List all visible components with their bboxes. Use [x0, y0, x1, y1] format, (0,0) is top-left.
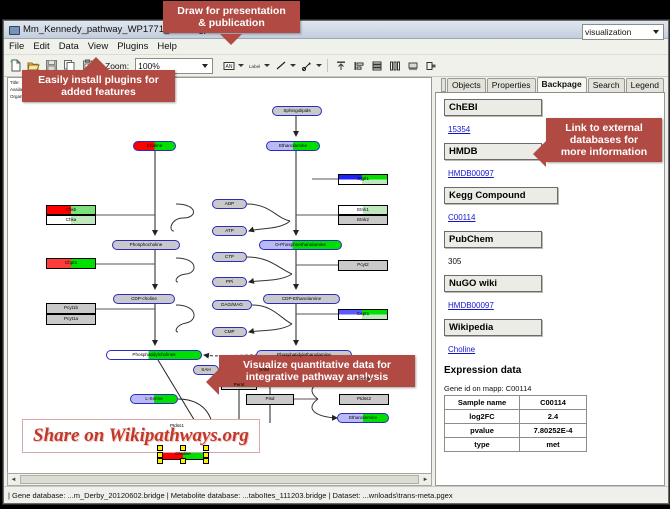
db-link-chebi[interactable]: 15354 [448, 125, 470, 134]
order-icon[interactable] [423, 58, 438, 73]
node-chkb[interactable]: Chkb [46, 205, 96, 215]
callout-draw-presentation: Draw for presentation & publication [163, 1, 300, 33]
callout-share: Share on Wikipathways.org [22, 419, 260, 453]
db-link-nugo-wiki[interactable]: HMDB00097 [448, 301, 494, 310]
node-label: Sphingolipids [283, 109, 310, 114]
node-label: Chpt1 [65, 261, 77, 266]
datanode-icon[interactable]: AN [221, 58, 236, 73]
svg-text:AN: AN [225, 64, 232, 70]
node-label: ATP [225, 229, 234, 234]
node-label: O-Phosphoethanolamine [275, 243, 326, 248]
db-card-chebi: ChEBI [444, 99, 542, 116]
db-value-pubchem: 305 [448, 257, 461, 266]
label-tool[interactable]: Label [247, 58, 270, 73]
node-pcyt1a[interactable]: Pcyt1a [46, 314, 96, 325]
node-sgpl1[interactable]: Sgpl1 [338, 174, 388, 185]
expr-key: type [445, 438, 520, 452]
callout-text: Link to external databases for more info… [546, 118, 662, 162]
interaction-icon[interactable] [299, 58, 314, 73]
distribute-icon[interactable] [387, 58, 402, 73]
expr-value: 7.80252E-4 [520, 424, 587, 438]
selection-handle[interactable] [180, 445, 186, 451]
node-label: Ethanolamine [279, 144, 307, 149]
node-label: SAM [259, 368, 269, 373]
menu-item-file[interactable]: File [9, 41, 24, 52]
chevron-down-icon[interactable] [315, 61, 322, 70]
expr-value: 2.4 [520, 410, 587, 424]
selection-handle[interactable] [157, 445, 163, 451]
chevron-down-icon[interactable] [199, 60, 210, 71]
expr-key: Sample name [445, 396, 520, 410]
tab-scroll-handle[interactable] [441, 78, 446, 92]
node-ethanolamine[interactable]: Ethanolamine [266, 141, 320, 151]
node-cmp[interactable]: CMP [212, 327, 247, 337]
node-label: Etnk1 [357, 208, 369, 213]
callout-text: Draw for presentation & publication [163, 1, 300, 33]
db-link-wikipedia[interactable]: Choline [448, 345, 475, 354]
toolbar-separator [327, 59, 328, 72]
new-file-icon[interactable] [8, 58, 23, 73]
tab-legend[interactable]: Legend [626, 78, 664, 92]
db-link-hmdb[interactable]: HMDB00097 [448, 169, 494, 178]
db-card-kegg-compound: Kegg Compound [444, 187, 558, 204]
node-label: Phosphatidylcholines [132, 353, 175, 358]
title-bar: Mm_Kennedy_pathway_WP1771_45176.gpml [4, 21, 668, 39]
align-left-icon[interactable] [351, 58, 366, 73]
node-dag-mag[interactable]: DAG/MAG [212, 300, 252, 310]
chevron-down-icon[interactable] [289, 61, 296, 70]
db-card-hmdb: HMDB [444, 143, 542, 160]
callout-arrow-down [220, 34, 242, 45]
node-label: L-Serine [145, 397, 162, 402]
selection-handle[interactable] [203, 445, 209, 451]
node-label: DAG/MAG [221, 303, 243, 308]
node-label: Cept1 [357, 312, 369, 317]
node-etnk1[interactable]: Etnk1 [338, 205, 388, 215]
align-top-icon[interactable] [333, 58, 348, 73]
tab-search[interactable]: Search [588, 78, 625, 92]
menu-item-view[interactable]: View [88, 41, 108, 52]
node-ptdss2[interactable]: Ptdss2 [339, 394, 389, 405]
callout-arrow-up [83, 57, 109, 70]
expression-data-heading: Expression data [444, 365, 664, 376]
gene-id-line: Gene id on mapp: C00114 [444, 384, 664, 393]
datanode-tool[interactable]: AN [221, 58, 244, 73]
scroll-thumb[interactable] [20, 475, 419, 484]
node-pisd[interactable]: Pisd [246, 394, 294, 405]
node-atp[interactable]: ATP [212, 226, 247, 236]
node-label: L-Serine [354, 377, 371, 382]
node-label: CMP [224, 330, 234, 335]
status-text: | Gene database: ...m_Derby_20120602.bri… [8, 491, 453, 500]
panel-tabstrip: Objects Properties Backpage Search Legen… [435, 77, 665, 93]
chevron-down-icon[interactable] [237, 61, 244, 70]
chevron-down-icon[interactable] [650, 27, 661, 38]
node-pcyt1b[interactable]: Pcyt1b [46, 303, 96, 314]
node-label: CDP-choline [131, 297, 157, 302]
callout-visualize: Visualize quantitative data for integrat… [219, 355, 415, 387]
table-row: type met [445, 438, 587, 452]
expr-key: pvalue [445, 424, 520, 438]
node-etnk2[interactable]: Etnk2 [338, 215, 388, 225]
node-label: Etnk2 [357, 218, 369, 223]
node-label: Ethanolamine [349, 416, 377, 421]
expr-key: log2FC [445, 410, 520, 424]
selection-handle[interactable] [203, 458, 209, 464]
expression-table: Sample name C00114 log2FC 2.4 pvalue 7.8… [444, 395, 587, 452]
line-icon[interactable] [273, 58, 288, 73]
table-row: pvalue 7.80252E-4 [445, 424, 587, 438]
node-label: Ptdss1 [170, 424, 184, 429]
node-cdp-ethanolamine[interactable]: CDP-Ethanolamine [263, 294, 340, 304]
node-phosphocholine[interactable]: Phosphocholine [112, 240, 180, 250]
node-chka[interactable]: Chka [46, 215, 96, 225]
node-ctp[interactable]: CTP [212, 252, 247, 262]
node-label: Ptdss2 [357, 397, 371, 402]
node-ethanolamine-bottom[interactable]: Ethanolamine [337, 413, 389, 423]
expr-value: met [520, 438, 587, 452]
tab-properties[interactable]: Properties [487, 78, 536, 92]
node-chpt1[interactable]: Chpt1 [46, 258, 96, 269]
visualization-value: visualization [585, 27, 650, 37]
canvas-hscrollbar[interactable]: ◄ ► [7, 473, 432, 486]
node-adp[interactable]: ADP [212, 199, 247, 209]
node-choline-top[interactable]: Choline [133, 141, 176, 151]
selection-handle[interactable] [157, 458, 163, 464]
status-bar: | Gene database: ...m_Derby_20120602.bri… [4, 486, 668, 503]
menu-item-edit[interactable]: Edit [33, 41, 49, 52]
line-tool[interactable] [273, 58, 296, 73]
node-cept1[interactable]: Cept1 [338, 309, 388, 320]
scroll-right-icon[interactable]: ► [420, 474, 431, 485]
node-o-phosphoethanolamine[interactable]: O-Phosphoethanolamine [259, 240, 342, 250]
node-label: PPi [226, 280, 233, 285]
callout-plugins: Easily install plugins for added feature… [22, 70, 175, 102]
node-label: Pcyt1b [64, 306, 78, 311]
group-icon[interactable] [405, 58, 420, 73]
callout-text: Easily install plugins for added feature… [22, 70, 175, 102]
node-ppi[interactable]: PPi [212, 277, 247, 287]
node-label: Phosphocholine [130, 243, 163, 248]
node-sphingolipids[interactable]: Sphingolipids [272, 106, 322, 116]
stack-icon[interactable] [369, 58, 384, 73]
callout-external-links: Link to external databases for more info… [546, 118, 662, 162]
app-window-icon [8, 24, 19, 35]
node-cdp-choline[interactable]: CDP-choline [113, 294, 175, 304]
db-card-pubchem: PubChem [444, 231, 542, 248]
node-label: Pcyt1a [64, 317, 78, 322]
db-card-nugo-wiki: NuGO wiki [444, 275, 542, 292]
node-l-serine-left[interactable]: L-Serine [130, 394, 178, 404]
node-label: Pcyt2 [357, 263, 369, 268]
label-icon[interactable]: Label [247, 58, 262, 73]
table-row: log2FC 2.4 [445, 410, 587, 424]
table-row: Sample name C00114 [445, 396, 587, 410]
node-phosphatidylcholines[interactable]: Phosphatidylcholines [106, 350, 202, 360]
node-label: CDP-Ethanolamine [282, 297, 321, 302]
svg-text:Label: Label [249, 63, 260, 68]
visualization-combo[interactable]: visualization [582, 24, 664, 40]
interaction-tool[interactable] [299, 58, 322, 73]
node-label: Choline [147, 144, 163, 149]
node-label: Choline [175, 452, 191, 457]
app-root: Mm_Kennedy_pathway_WP1771_45176.gpml Fil… [0, 0, 670, 509]
callout-arrow-left [533, 141, 546, 167]
selection-handle[interactable] [180, 458, 186, 464]
node-label: SAH [201, 368, 210, 373]
menu-item-help[interactable]: Help [157, 41, 177, 52]
menu-bar: File Edit Data View Plugins Help [4, 39, 668, 55]
node-pcyt2[interactable]: Pcyt2 [338, 260, 388, 271]
expr-value: C00114 [520, 396, 587, 410]
node-label: Pisd [266, 397, 275, 402]
node-label: Phosphatidylethanolamine [277, 353, 331, 358]
node-label: Sgpl1 [357, 177, 369, 182]
callout-arrow-left [206, 369, 219, 395]
tab-backpage[interactable]: Backpage [537, 77, 587, 92]
node-label: Chkb [66, 208, 77, 213]
node-label: Pemt [234, 383, 245, 388]
callout-text: Visualize quantitative data for integrat… [219, 355, 415, 387]
chevron-down-icon[interactable] [263, 61, 270, 70]
db-card-wikipedia: Wikipedia [444, 319, 542, 336]
db-link-kegg-compound[interactable]: C00114 [448, 213, 475, 222]
node-label: Chka [66, 218, 77, 223]
scroll-left-icon[interactable]: ◄ [8, 474, 19, 485]
callout-text: Share on Wikipathways.org [33, 425, 249, 446]
zoom-value: 100% [138, 61, 199, 71]
menu-item-data[interactable]: Data [59, 41, 79, 52]
node-label: ADP [225, 202, 234, 207]
tab-objects[interactable]: Objects [447, 78, 486, 92]
node-label: CTP [225, 255, 234, 260]
menu-item-plugins[interactable]: Plugins [117, 41, 148, 52]
